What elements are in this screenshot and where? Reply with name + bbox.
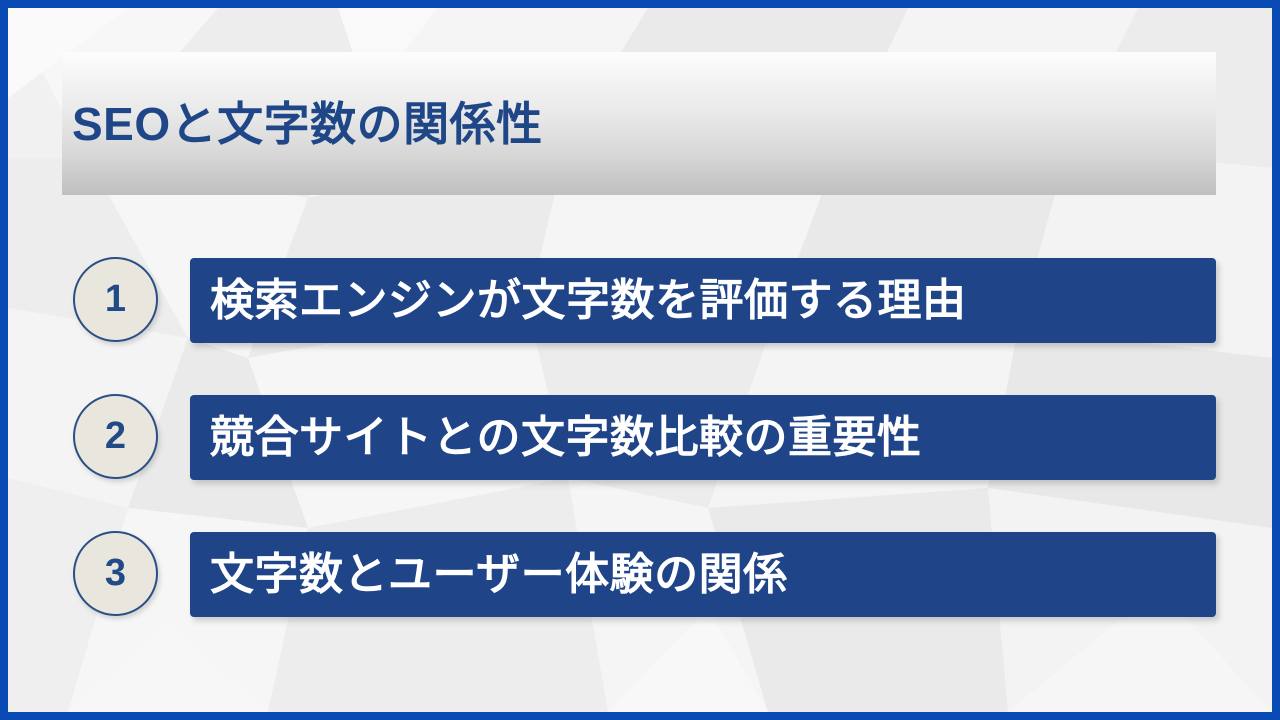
list-item[interactable]: 1 検索エンジンが文字数を評価する理由 [62,257,1216,343]
item-number-badge: 3 [73,531,158,616]
frame-border-right [1272,0,1280,720]
item-bar[interactable]: 競合サイトとの文字数比較の重要性 [190,395,1216,480]
item-bar-label: 検索エンジンが文字数を評価する理由 [210,279,967,323]
frame-border-top [0,0,1280,8]
frame-border-left [0,0,8,720]
item-number-badge: 2 [73,394,158,479]
item-bar-label: 文字数とユーザー体験の関係 [210,553,788,597]
item-bar[interactable]: 検索エンジンが文字数を評価する理由 [190,258,1216,343]
item-bar-label: 競合サイトとの文字数比較の重要性 [210,416,922,460]
list-item[interactable]: 3 文字数とユーザー体験の関係 [62,531,1216,617]
list-item[interactable]: 2 競合サイトとの文字数比較の重要性 [62,394,1216,480]
item-number-label: 2 [105,417,126,455]
item-bar[interactable]: 文字数とユーザー体験の関係 [190,532,1216,617]
slide-title-bar: SEOと文字数の関係性 [62,52,1216,195]
presentation-slide: SEOと文字数の関係性 1 検索エンジンが文字数を評価する理由 2 競合サイトと… [0,0,1280,720]
item-number-badge: 1 [73,257,158,342]
page-title: SEOと文字数の関係性 [72,101,543,147]
item-number-label: 3 [105,554,126,592]
frame-border-bottom [0,712,1280,720]
item-number-label: 1 [105,280,126,318]
